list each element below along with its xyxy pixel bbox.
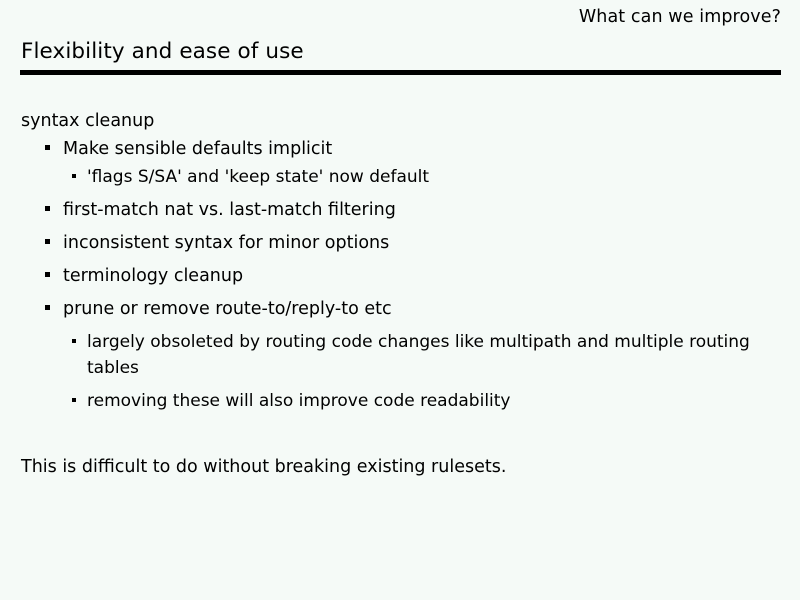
list-item-label: first-match nat vs. last-match filtering [63,200,396,220]
square-bullet-icon [72,174,76,178]
list-item: inconsistent syntax for minor options [45,228,781,256]
slide-body: syntax cleanup Make sensible defaults im… [21,108,781,414]
list-item: removing these will also improve code re… [72,386,781,414]
list-item-label: largely obsoleted by routing code change… [87,329,781,381]
list-item: first-match nat vs. last-match filtering [45,195,781,223]
list-item-label: prune or remove route-to/reply-to etc [63,299,392,319]
list-item-label: terminology cleanup [63,266,243,286]
list-item: 'flags S/SA' and 'keep state' now defaul… [72,162,781,190]
square-bullet-icon [72,339,76,343]
list-item-label: Make sensible defaults implicit [63,139,332,159]
slide: What can we improve? Flexibility and eas… [0,0,800,600]
page-title: Flexibility and ease of use [21,38,304,66]
list-item-label: removing these will also improve code re… [87,388,781,414]
list-item: terminology cleanup [45,261,781,289]
closing-note: This is difficult to do without breaking… [21,455,506,479]
square-bullet-icon [45,206,50,211]
title-divider [20,70,781,75]
list-item: prune or remove route-to/reply-to etc [45,294,781,322]
intro-line: syntax cleanup [21,108,781,134]
square-bullet-icon [45,239,50,244]
list-item-label: inconsistent syntax for minor options [63,233,389,253]
square-bullet-icon [45,145,50,150]
list-item-label: 'flags S/SA' and 'keep state' now defaul… [87,164,781,190]
square-bullet-icon [45,305,50,310]
square-bullet-icon [72,398,76,402]
square-bullet-icon [45,272,50,277]
slide-kicker: What can we improve? [579,6,781,28]
list-item: Make sensible defaults implicit [45,134,781,162]
list-item: largely obsoleted by routing code change… [72,327,781,381]
